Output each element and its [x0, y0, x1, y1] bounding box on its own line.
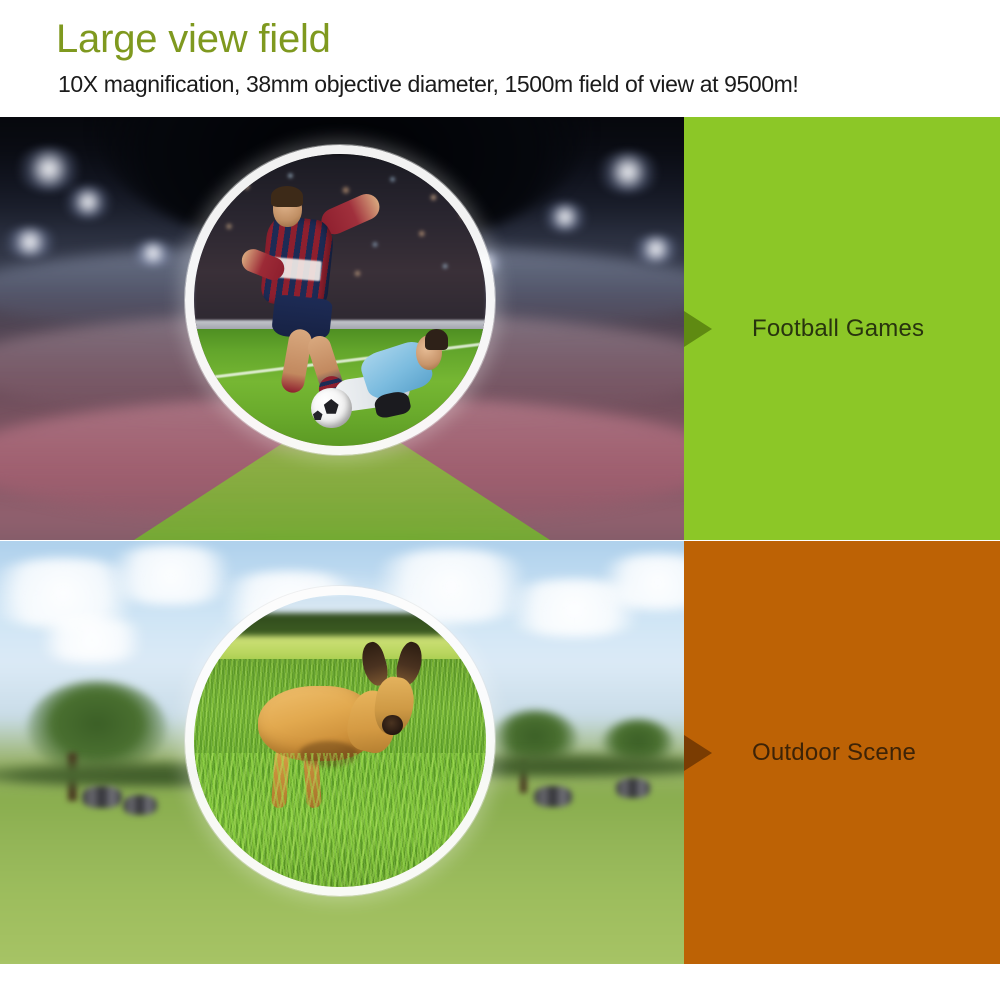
- floodlight-icon: [540, 202, 590, 232]
- floodlight-icon: [0, 227, 60, 257]
- header: Large view field 10X magnification, 38mm…: [0, 0, 1000, 117]
- outdoor-label-panel: Outdoor Scene: [684, 541, 1000, 964]
- triangle-right-icon: [684, 311, 712, 347]
- floodlight-icon: [130, 240, 176, 266]
- zebra-icon: [534, 786, 572, 807]
- circle-inner-outdoor: [194, 595, 486, 887]
- binocular-circle-view-football: [185, 145, 495, 455]
- zebra-icon: [123, 795, 157, 815]
- page-title: Large view field: [56, 18, 331, 60]
- zebra-icon: [616, 778, 650, 798]
- foreground-grass-blades: [194, 753, 486, 887]
- page-subtitle: 10X magnification, 38mm objective diamet…: [58, 71, 798, 98]
- feature-panels: Football Games: [0, 117, 1000, 962]
- floodlight-icon: [595, 151, 661, 193]
- zebra-icon: [82, 786, 122, 808]
- outdoor-label: Outdoor Scene: [752, 739, 916, 767]
- triangle-right-icon: [684, 735, 712, 771]
- deer-snout: [382, 715, 402, 735]
- soccer-ball-icon: [311, 388, 352, 429]
- binocular-circle-view-outdoor: [185, 586, 495, 896]
- football-label-panel: Football Games: [684, 117, 1000, 540]
- outdoor-photo: [0, 541, 684, 964]
- row-divider: [0, 540, 1000, 541]
- cloud-icon: [27, 617, 157, 663]
- floodlight-icon: [14, 147, 84, 191]
- feature-row-outdoor: Outdoor Scene: [0, 541, 1000, 964]
- floodlight-icon: [62, 185, 114, 219]
- product-feature-page: Large view field 10X magnification, 38mm…: [0, 0, 1000, 1000]
- defender-hair: [425, 329, 448, 349]
- football-label: Football Games: [752, 315, 924, 343]
- feature-row-football: Football Games: [0, 117, 1000, 540]
- football-photo: [0, 117, 684, 540]
- circle-inner-football: [194, 154, 486, 446]
